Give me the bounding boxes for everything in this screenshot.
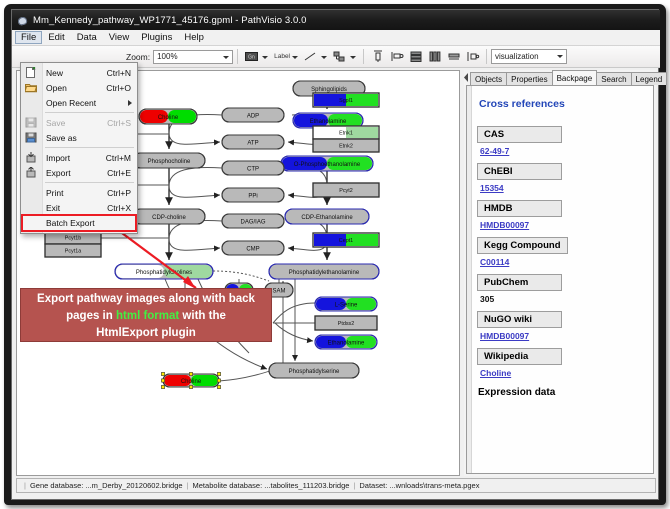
visualization-value: visualization — [495, 52, 539, 61]
distribute-vertical-tool-icon[interactable] — [407, 49, 424, 65]
metabolite-label: Sphingolipids — [311, 87, 347, 93]
datanode-dropdown-icon[interactable] — [262, 56, 268, 59]
file-menu-print-shortcut: Ctrl+P — [107, 188, 131, 198]
gene-node-etnk2[interactable]: Etnk2 — [313, 139, 379, 152]
xref-group-nugo: NuGO wiki HMDB00097 — [477, 311, 645, 341]
label-dropdown-icon[interactable] — [292, 56, 298, 59]
line-dropdown-icon[interactable] — [321, 56, 327, 59]
metabolite-node-dag-iag[interactable]: DAG/IAG — [222, 214, 284, 228]
new-document-icon — [25, 67, 37, 78]
gene-label: Sgpl1 — [339, 98, 353, 104]
expression-data-heading: Expression data — [478, 387, 645, 398]
zoom-label: Zoom: — [126, 52, 150, 62]
gene-node-sgpl1[interactable]: Sgpl1 — [313, 93, 379, 107]
menu-item-data[interactable]: Data — [71, 31, 103, 44]
tab-scroll-left-icon[interactable] — [464, 73, 469, 82]
window-inner: Mm_Kennedy_pathway_WP1771_45176.gpml - P… — [11, 9, 659, 500]
metabolite-label: L-Serine — [335, 302, 358, 308]
interaction-dropdown-icon[interactable] — [350, 56, 356, 59]
xref-link-cas[interactable]: 62-49-7 — [480, 146, 645, 156]
xref-label-cas: CAS — [477, 126, 562, 143]
metabolite-node-cmp[interactable]: CMP — [222, 241, 284, 255]
metabolite-label: ATP — [247, 140, 258, 146]
xref-value-pubchem: 305 — [480, 294, 645, 304]
status-bar: | Gene database: ...m_Derby_20120602.bri… — [16, 478, 656, 493]
import-icon — [25, 152, 37, 163]
metabolite-node-choline-bottom[interactable]: Choline — [161, 372, 220, 388]
gene-label: Pcyt2 — [339, 188, 352, 194]
file-menu-save-label: Save — [46, 118, 65, 128]
chevron-down-icon — [223, 56, 229, 59]
metabolite-node-phosphatidylcholines[interactable]: Phosphatidylcholines — [115, 264, 213, 279]
file-menu-print-label: Print — [46, 188, 63, 198]
side-panel: Objects Properties Backpage Search Legen… — [464, 70, 656, 476]
export-icon — [25, 167, 37, 178]
file-menu-batch-export[interactable]: Batch Export — [23, 216, 135, 230]
metabolite-label: ADP — [247, 113, 259, 119]
metabolite-node-ppi[interactable]: PPi — [222, 188, 284, 202]
chevron-right-icon — [128, 100, 132, 106]
menu-item-view[interactable]: View — [103, 31, 135, 44]
file-menu-import-label: Import — [46, 153, 70, 163]
file-menu-open-recent-label: Open Recent — [46, 98, 96, 108]
xref-group-hmdb: HMDB HMDB00097 — [477, 200, 645, 230]
panel-scrollbar[interactable] — [467, 86, 472, 473]
annotation-line-3: HtmlExport plugin — [21, 325, 271, 342]
metabolite-label: Phosphatidylserine — [289, 369, 340, 375]
file-menu-import[interactable]: Import Ctrl+M — [21, 150, 137, 165]
metabolite-label: CDP-Ethanolamine — [301, 215, 353, 221]
gene-label: Etnk2 — [339, 144, 353, 150]
open-folder-icon — [25, 82, 37, 93]
annotation-line-2-prefix: pages in — [66, 310, 116, 322]
file-menu-export-shortcut: Ctrl+E — [107, 168, 131, 178]
tab-objects[interactable]: Objects — [470, 72, 507, 85]
xref-label-kegg: Kegg Compound — [477, 237, 568, 254]
metabolite-label: SAM — [272, 288, 285, 294]
gene-label: Pcyt1a — [65, 249, 81, 255]
file-menu-new-label: New — [46, 68, 63, 78]
save-as-icon — [25, 132, 37, 143]
file-menu-open[interactable]: Open Ctrl+O — [21, 80, 137, 95]
tab-legend[interactable]: Legend — [631, 72, 668, 85]
toolbar-divider — [237, 49, 238, 64]
metabolite-label: Phosphocholine — [148, 159, 191, 165]
file-menu-save-as[interactable]: Save as — [21, 130, 137, 145]
save-disk-icon — [25, 117, 37, 128]
xref-link-nugo[interactable]: HMDB00097 — [480, 331, 645, 341]
metabolite-node-ethanolamine-low[interactable]: Ethanolamine — [315, 335, 377, 349]
xref-label-nugo: NuGO wiki — [477, 311, 562, 328]
menu-item-file[interactable]: File — [15, 31, 42, 44]
gene-label: Etnk1 — [339, 131, 353, 137]
metabolite-node-l-serine[interactable]: L-Serine — [315, 297, 377, 311]
tab-properties[interactable]: Properties — [506, 72, 552, 85]
file-menu-new[interactable]: New Ctrl+N — [21, 65, 137, 80]
metabolite-label: CTP — [247, 166, 259, 172]
metabolite-label: Phosphatidylethanolamine — [289, 270, 360, 276]
gene-node-pcyt2[interactable]: Pcyt2 — [313, 183, 379, 197]
file-menu-exit-shortcut: Ctrl+X — [107, 203, 131, 213]
tab-backpage[interactable]: Backpage — [552, 70, 598, 85]
status-metabolite-database: Metabolite database: ...tabolites_111203… — [193, 481, 350, 490]
interaction-tool-icon[interactable] — [331, 49, 348, 65]
visualization-combobox[interactable]: visualization — [491, 49, 567, 64]
menu-item-edit[interactable]: Edit — [42, 31, 70, 44]
metabolite-label: PPi — [248, 193, 257, 199]
metabolite-node-adp[interactable]: ADP — [222, 108, 284, 122]
align-top-tool-icon[interactable] — [369, 49, 386, 65]
file-menu-open-recent[interactable]: Open Recent — [21, 95, 137, 110]
annotation-callout: Export pathway images along with back pa… — [20, 288, 272, 342]
panel-tabstrip[interactable]: Objects Properties Backpage Search Legen… — [464, 70, 656, 85]
xref-label-pubchem: PubChem — [477, 274, 562, 291]
metabolite-label: Choline — [181, 379, 202, 385]
file-menu-export-label: Export — [46, 168, 71, 178]
same-width-tool-icon[interactable] — [445, 49, 462, 65]
metabolite-node-phosphatidylserine[interactable]: Phosphatidylserine — [269, 363, 359, 378]
metabolite-node-choline-top[interactable]: Choline — [139, 109, 197, 124]
file-menu-open-shortcut: Ctrl+O — [106, 83, 131, 93]
xref-group-pubchem: PubChem 305 — [477, 274, 645, 304]
cross-references-heading: Cross references — [479, 98, 645, 110]
toolbar-divider-3 — [486, 49, 487, 64]
xref-link-chebi[interactable]: 15354 — [480, 183, 645, 193]
status-divider-2: | — [353, 481, 355, 490]
annotation-highlight-text: html format — [116, 310, 179, 322]
gene-label: Ptdss2 — [338, 321, 354, 327]
xref-group-kegg: Kegg Compound C00114 — [477, 237, 645, 267]
metabolite-node-phosphocholine[interactable]: Phosphocholine — [133, 153, 205, 168]
gene-label: Cept1 — [339, 238, 353, 244]
file-menu-popup[interactable]: New Ctrl+N Open Ctrl+O Open Recent — [20, 62, 138, 234]
file-menu-import-shortcut: Ctrl+M — [106, 153, 131, 163]
distribute-horizontal-tool-icon[interactable] — [426, 49, 443, 65]
zoom-value: 100% — [157, 52, 177, 61]
pathvisio-app-icon — [17, 15, 28, 26]
gene-label: Pcyt1b — [65, 236, 81, 242]
xref-link-wikipedia[interactable]: Choline — [480, 368, 645, 378]
chevron-down-icon-2 — [557, 55, 563, 58]
datanode-tool-icon[interactable]: Gn — [243, 49, 260, 65]
file-menu-exit-label: Exit — [46, 203, 60, 213]
status-divider-1: | — [187, 481, 189, 490]
menu-item-help[interactable]: Help — [178, 31, 210, 44]
file-menu-print[interactable]: Print Ctrl+P — [21, 185, 137, 200]
status-gene-database: Gene database: ...m_Derby_20120602.bridg… — [30, 481, 183, 490]
metabolite-label: Choline — [158, 115, 179, 121]
metabolite-label: O-Phosphoethanolamine — [294, 162, 361, 168]
align-left-tool-icon[interactable] — [388, 49, 405, 65]
metabolite-node-o-phosphoethanolamine[interactable]: O-Phosphoethanolamine — [281, 156, 373, 171]
file-menu-batch-export-label: Batch Export — [46, 218, 95, 228]
metabolite-label: DAG/IAG — [240, 219, 265, 225]
metabolite-node-phosphatidylethanolamine[interactable]: Phosphatidylethanolamine — [269, 264, 379, 279]
file-menu-export[interactable]: Export Ctrl+E — [21, 165, 137, 180]
metabolite-label: CDP-choline — [152, 215, 186, 221]
svg-text:Gn: Gn — [248, 55, 255, 61]
title-bar: Mm_Kennedy_pathway_WP1771_45176.gpml - P… — [12, 10, 660, 30]
annotation-line-2: pages in html format with the — [21, 308, 271, 325]
xref-label-wikipedia: Wikipedia — [477, 348, 562, 365]
backpage-content: Cross references CAS 62-49-7 ChEBI 15354… — [466, 85, 654, 474]
toolbar-divider-2 — [363, 49, 364, 64]
file-menu-exit[interactable]: Exit Ctrl+X — [21, 200, 137, 215]
window-frame: Mm_Kennedy_pathway_WP1771_45176.gpml - P… — [4, 4, 666, 505]
gene-node-cept1[interactable]: Cept1 — [313, 233, 379, 247]
annotation-line-1: Export pathway images along with back — [21, 291, 271, 308]
xref-group-chebi: ChEBI 15354 — [477, 163, 645, 193]
file-menu-save-shortcut: Ctrl+S — [107, 118, 131, 128]
pathvisio-app-window: Mm_Kennedy_pathway_WP1771_45176.gpml - P… — [0, 0, 670, 509]
menu-bar[interactable]: File Edit Data View Plugins Help — [12, 30, 660, 46]
tab-search[interactable]: Search — [596, 72, 631, 85]
status-divider-0: | — [24, 481, 26, 490]
xref-link-kegg[interactable]: C00114 — [480, 257, 645, 267]
menu-item-plugins[interactable]: Plugins — [135, 31, 178, 44]
xref-group-cas: CAS 62-49-7 — [477, 126, 645, 156]
annotation-line-2-suffix: with the — [179, 310, 226, 322]
file-menu-save: Save Ctrl+S — [21, 115, 137, 130]
gene-node-etnk1[interactable]: Etnk1 — [313, 126, 379, 139]
file-menu-open-label: Open — [46, 83, 67, 93]
label-tool-label: Label — [274, 53, 290, 60]
metabolite-label: Phosphatidylcholines — [136, 270, 192, 276]
zoom-combobox[interactable]: 100% — [153, 50, 233, 64]
xref-link-hmdb[interactable]: HMDB00097 — [480, 220, 645, 230]
status-dataset: Dataset: ...wnloads\trans-meta.pgex — [359, 481, 479, 490]
file-menu-separator-2 — [45, 147, 134, 148]
metabolite-label: CMP — [246, 246, 259, 252]
xref-group-wikipedia: Wikipedia Choline — [477, 348, 645, 378]
metabolite-label: Ethanolamine — [310, 119, 347, 125]
metabolite-node-cdp-choline[interactable]: CDP-choline — [133, 209, 205, 224]
xref-label-chebi: ChEBI — [477, 163, 562, 180]
file-menu-save-as-label: Save as — [46, 133, 77, 143]
same-height-tool-icon[interactable] — [464, 49, 481, 65]
window-title: Mm_Kennedy_pathway_WP1771_45176.gpml - P… — [33, 15, 307, 26]
gene-node-ptdss2[interactable]: Ptdss2 — [315, 316, 377, 330]
metabolite-node-atp[interactable]: ATP — [222, 135, 284, 149]
file-menu-separator-3 — [45, 182, 134, 183]
file-menu-new-shortcut: Ctrl+N — [107, 68, 131, 78]
metabolite-label: Ethanolamine — [328, 340, 365, 346]
xref-label-hmdb: HMDB — [477, 200, 562, 217]
line-tool-icon[interactable] — [302, 49, 319, 65]
file-menu-separator-1 — [45, 112, 134, 113]
metabolite-node-cdp-ethanolamine[interactable]: CDP-Ethanolamine — [285, 209, 369, 224]
gene-node-pcyt1a[interactable]: Pcyt1a — [45, 244, 101, 257]
metabolite-node-ctp[interactable]: CTP — [222, 161, 284, 175]
